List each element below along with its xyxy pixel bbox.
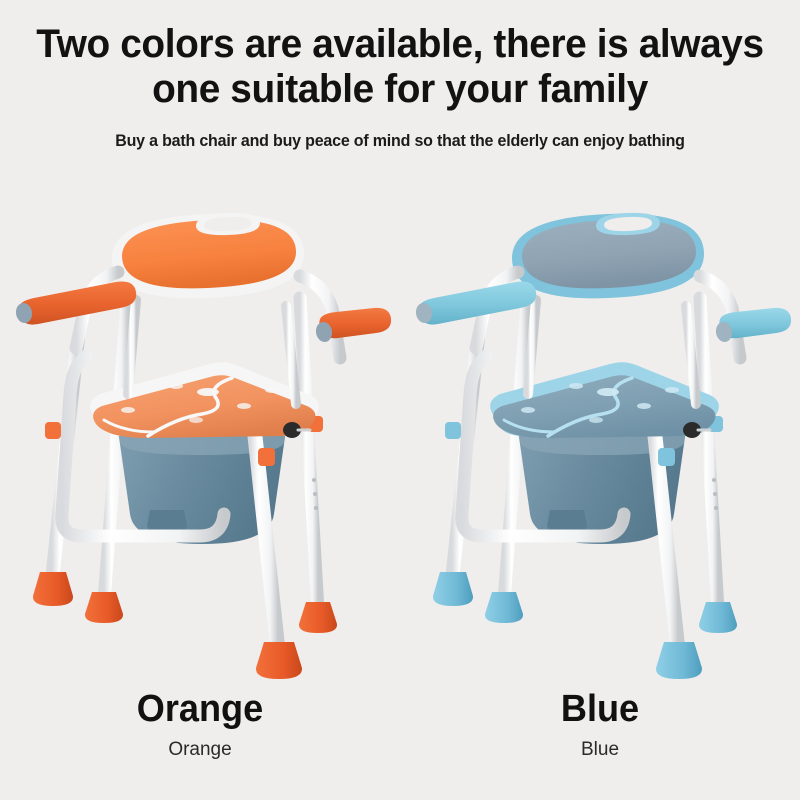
product-variant-gallery: Orange Orange xyxy=(0,180,800,800)
armrest-grip-left[interactable] xyxy=(414,281,536,324)
product-variant-blue[interactable]: Blue Blue xyxy=(400,180,800,800)
armrest-grip-left[interactable] xyxy=(14,281,136,324)
variant-caption-orange: Orange Orange xyxy=(0,690,400,761)
commode-shower-chair-icon xyxy=(400,180,800,700)
armrest-grip-right[interactable] xyxy=(314,308,391,343)
variant-subname: Orange xyxy=(0,740,400,761)
variant-name: Blue xyxy=(410,690,790,730)
product-color-options-poster: Two colors are available, there is alway… xyxy=(0,0,800,800)
commode-shower-chair-icon xyxy=(0,180,400,700)
product-variant-orange[interactable]: Orange Orange xyxy=(0,180,400,800)
chair-image-blue xyxy=(400,180,800,700)
backrest xyxy=(512,213,704,298)
variant-caption-blue: Blue Blue xyxy=(400,690,800,761)
page-subtitle: Buy a bath chair and buy peace of mind s… xyxy=(12,112,788,151)
backrest xyxy=(112,213,304,298)
poster-header: Two colors are available, there is alway… xyxy=(0,0,800,151)
armrest-grip-right[interactable] xyxy=(714,308,791,343)
variant-subname: Blue xyxy=(400,740,800,761)
page-title: Two colors are available, there is alway… xyxy=(12,0,788,112)
variant-name: Orange xyxy=(10,690,390,730)
chair-image-orange xyxy=(0,180,400,700)
